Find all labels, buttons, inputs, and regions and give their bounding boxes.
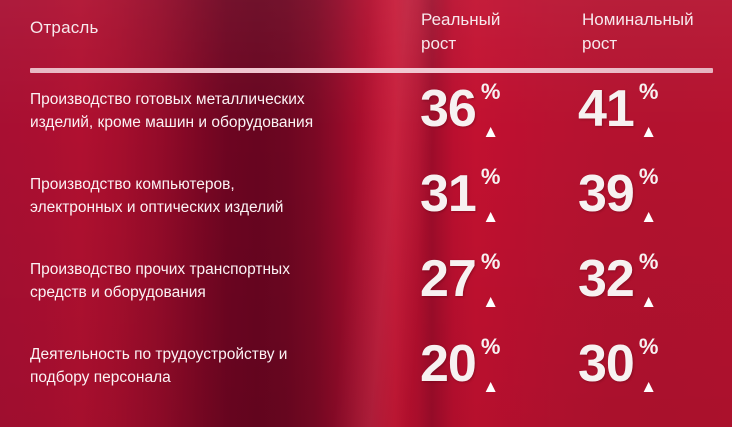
metric-value: 32	[578, 250, 634, 308]
arrow-up-icon: ▲	[640, 380, 657, 394]
row-real-growth-metric: 31 % ▲	[420, 165, 500, 235]
metric-value: 31	[420, 165, 476, 223]
metric-value: 20	[420, 335, 476, 393]
arrow-up-icon: ▲	[482, 125, 499, 139]
percent-icon: %	[481, 82, 501, 102]
metric-value: 36	[420, 80, 476, 138]
metric-annotations: % ▲	[639, 165, 659, 225]
table-row: Деятельность по трудоустройству и подбор…	[0, 335, 732, 420]
metric-value: 27	[420, 250, 476, 308]
row-industry-label: Производство прочих транспортных средств…	[30, 258, 400, 304]
row-nominal-growth-metric: 39 % ▲	[578, 165, 658, 235]
metric-annotations: % ▲	[481, 165, 501, 225]
arrow-up-icon: ▲	[640, 210, 657, 224]
percent-icon: %	[639, 252, 659, 272]
percent-icon: %	[481, 167, 501, 187]
row-real-growth-metric: 20 % ▲	[420, 335, 500, 405]
table-row: Производство компьютеров, электронных и …	[0, 165, 732, 250]
column-header-industry: Отрасль	[30, 18, 99, 38]
metric-value: 39	[578, 165, 634, 223]
row-nominal-growth-metric: 30 % ▲	[578, 335, 658, 405]
metric-annotations: % ▲	[481, 80, 501, 140]
metric-annotations: % ▲	[481, 250, 501, 310]
infographic-content: Отрасль Реальный рост Номинальный рост П…	[0, 0, 732, 427]
table-row: Производство прочих транспортных средств…	[0, 250, 732, 335]
row-nominal-growth-metric: 41 % ▲	[578, 80, 658, 150]
row-industry-label: Производство готовых металлических издел…	[30, 88, 400, 134]
table-row: Производство готовых металлических издел…	[0, 80, 732, 165]
row-real-growth-metric: 27 % ▲	[420, 250, 500, 320]
arrow-up-icon: ▲	[482, 295, 499, 309]
percent-icon: %	[639, 167, 659, 187]
metric-annotations: % ▲	[639, 250, 659, 310]
metric-value: 41	[578, 80, 634, 138]
metric-annotations: % ▲	[639, 335, 659, 395]
percent-icon: %	[639, 337, 659, 357]
metric-value: 30	[578, 335, 634, 393]
infographic-panel: Отрасль Реальный рост Номинальный рост П…	[0, 0, 732, 427]
table-header-row: Отрасль Реальный рост Номинальный рост	[0, 0, 732, 66]
metric-annotations: % ▲	[481, 335, 501, 395]
row-nominal-growth-metric: 32 % ▲	[578, 250, 658, 320]
row-real-growth-metric: 36 % ▲	[420, 80, 500, 150]
column-header-real-growth: Реальный рост	[421, 8, 500, 56]
arrow-up-icon: ▲	[482, 210, 499, 224]
percent-icon: %	[481, 252, 501, 272]
row-industry-label: Производство компьютеров, электронных и …	[30, 173, 400, 219]
header-divider	[30, 68, 713, 73]
arrow-up-icon: ▲	[640, 295, 657, 309]
metric-annotations: % ▲	[639, 80, 659, 140]
arrow-up-icon: ▲	[482, 380, 499, 394]
arrow-up-icon: ▲	[640, 125, 657, 139]
percent-icon: %	[481, 337, 501, 357]
column-header-nominal-growth: Номинальный рост	[582, 8, 694, 56]
percent-icon: %	[639, 82, 659, 102]
row-industry-label: Деятельность по трудоустройству и подбор…	[30, 343, 400, 389]
